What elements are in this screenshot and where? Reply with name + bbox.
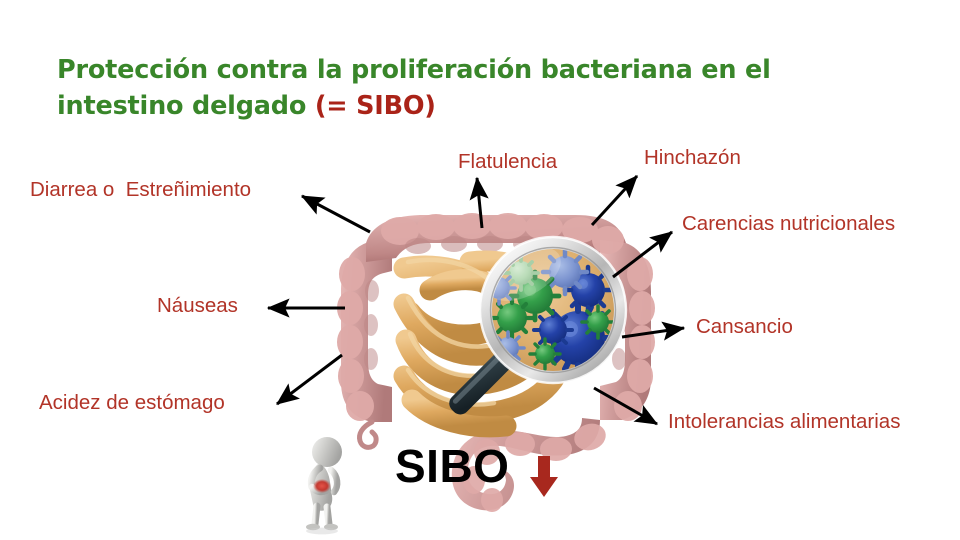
down-arrow-icon <box>530 456 558 497</box>
bacterium <box>492 298 532 338</box>
arrow-diarrea <box>302 196 370 232</box>
small-intestine-highlights <box>408 260 498 405</box>
title-line1: Protección contra la proliferación bacte… <box>57 55 771 85</box>
small-intestine <box>404 261 562 427</box>
bacterium <box>543 250 587 294</box>
title-line2: intestino delgado <box>57 91 315 121</box>
sibo-caption: SIBO <box>395 440 509 492</box>
label-carencias-nutricionales: Carencias nutricionales <box>682 212 895 236</box>
arrow-acidez <box>277 355 342 404</box>
arrow-carencias <box>613 232 672 277</box>
arrow-hinchazon <box>592 176 637 225</box>
bacterium <box>544 304 612 372</box>
person-holding-stomach <box>306 437 342 534</box>
label-acidez-estomago: Acidez de estómago <box>39 391 225 415</box>
label-nauseas: Náuseas <box>157 294 238 318</box>
label-intolerancias-alimentarias: Intolerancias alimentarias <box>668 410 900 434</box>
page-title: Protección contra la proliferación bacte… <box>57 52 887 124</box>
label-cansancio: Cansancio <box>696 315 793 339</box>
magnifying-glass <box>445 236 626 419</box>
title-sibo-abbrev: (= SIBO) <box>315 91 436 121</box>
bacterium <box>492 332 524 364</box>
bacterium <box>504 256 538 290</box>
arrow-intolerancias <box>594 388 657 424</box>
bacterium <box>565 267 611 313</box>
bacterium <box>530 339 560 369</box>
bacterium <box>511 272 559 320</box>
arrow-cansancio <box>622 328 684 337</box>
arrow-flatulencia <box>477 178 482 228</box>
label-diarrea-estrenimiento: Diarrea o Estreñimiento <box>30 178 251 202</box>
bacterium <box>582 306 614 338</box>
bacterium <box>534 311 572 349</box>
label-hinchazon: Hinchazón <box>644 146 741 170</box>
bacterium <box>483 272 515 304</box>
slide-canvas: Protección contra la proliferación bacte… <box>0 0 960 540</box>
label-flatulencia: Flatulencia <box>458 150 557 174</box>
bacteria-cluster <box>478 236 614 372</box>
